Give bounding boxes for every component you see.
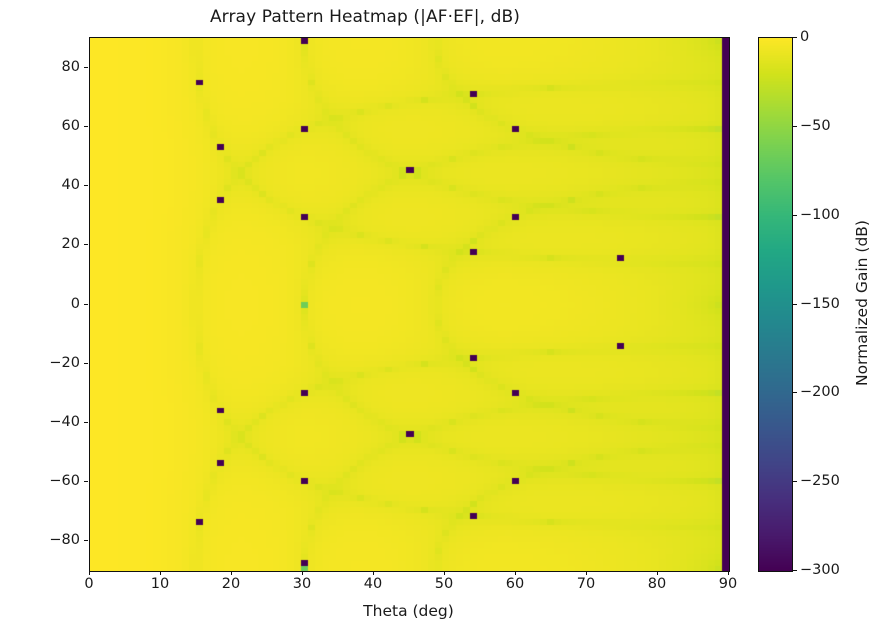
colorbar-tick-label: −50: [800, 118, 831, 134]
figure-canvas: Array Pattern Heatmap (|AF·EF|, dB) 0102…: [0, 0, 885, 637]
heatmap-image: [90, 38, 729, 571]
x-tick-label: 80: [648, 576, 666, 592]
y-tick-label: −40: [0, 414, 80, 430]
y-tick: [84, 540, 88, 541]
colorbar-gradient: [759, 38, 792, 571]
colorbar-tick: [792, 304, 797, 305]
colorbar-tick: [792, 37, 797, 38]
colorbar-tick-label: −300: [800, 562, 840, 578]
y-tick-label: 0: [0, 296, 80, 312]
colorbar-tick: [792, 215, 797, 216]
x-tick: [515, 571, 516, 575]
chart-title: Array Pattern Heatmap (|AF·EF|, dB): [0, 7, 730, 27]
x-tick-label: 20: [222, 576, 240, 592]
y-tick: [84, 185, 88, 186]
y-tick-label: −20: [0, 355, 80, 371]
colorbar-tick: [792, 126, 797, 127]
colorbar-tick-label: −250: [800, 473, 840, 489]
colorbar-tick-label: −150: [800, 296, 840, 312]
x-tick-label: 70: [577, 576, 595, 592]
y-tick: [84, 422, 88, 423]
y-tick-label: 60: [0, 118, 80, 134]
colorbar: [758, 37, 793, 572]
x-tick-label: 0: [84, 576, 93, 592]
x-tick: [160, 571, 161, 575]
colorbar-tick: [792, 392, 797, 393]
x-tick: [728, 571, 729, 575]
x-tick: [89, 571, 90, 575]
y-tick: [84, 67, 88, 68]
colorbar-tick-label: −100: [800, 207, 840, 223]
y-tick-label: −80: [0, 532, 80, 548]
colorbar-tick-label: −200: [800, 384, 840, 400]
y-tick: [84, 126, 88, 127]
x-tick-label: 40: [364, 576, 382, 592]
x-tick: [373, 571, 374, 575]
colorbar-tick: [792, 481, 797, 482]
x-tick: [586, 571, 587, 575]
x-tick-label: 60: [506, 576, 524, 592]
x-tick: [657, 571, 658, 575]
colorbar-tick-label: 0: [800, 29, 809, 45]
y-tick-label: 40: [0, 177, 80, 193]
x-tick-label: 30: [293, 576, 311, 592]
y-tick: [84, 481, 88, 482]
colorbar-tick: [792, 570, 797, 571]
y-tick-label: 20: [0, 236, 80, 252]
y-tick-label: −60: [0, 473, 80, 489]
x-tick-label: 50: [435, 576, 453, 592]
x-tick: [231, 571, 232, 575]
x-tick: [302, 571, 303, 575]
x-tick: [444, 571, 445, 575]
x-axis-label: Theta (deg): [89, 602, 728, 620]
y-tick: [84, 363, 88, 364]
y-tick: [84, 244, 88, 245]
x-tick-label: 90: [719, 576, 737, 592]
heatmap-axes: [89, 37, 730, 572]
y-tick-label: 80: [0, 59, 80, 75]
colorbar-label: Normalized Gain (dB): [853, 153, 871, 453]
y-tick: [84, 304, 88, 305]
x-tick-label: 10: [151, 576, 169, 592]
